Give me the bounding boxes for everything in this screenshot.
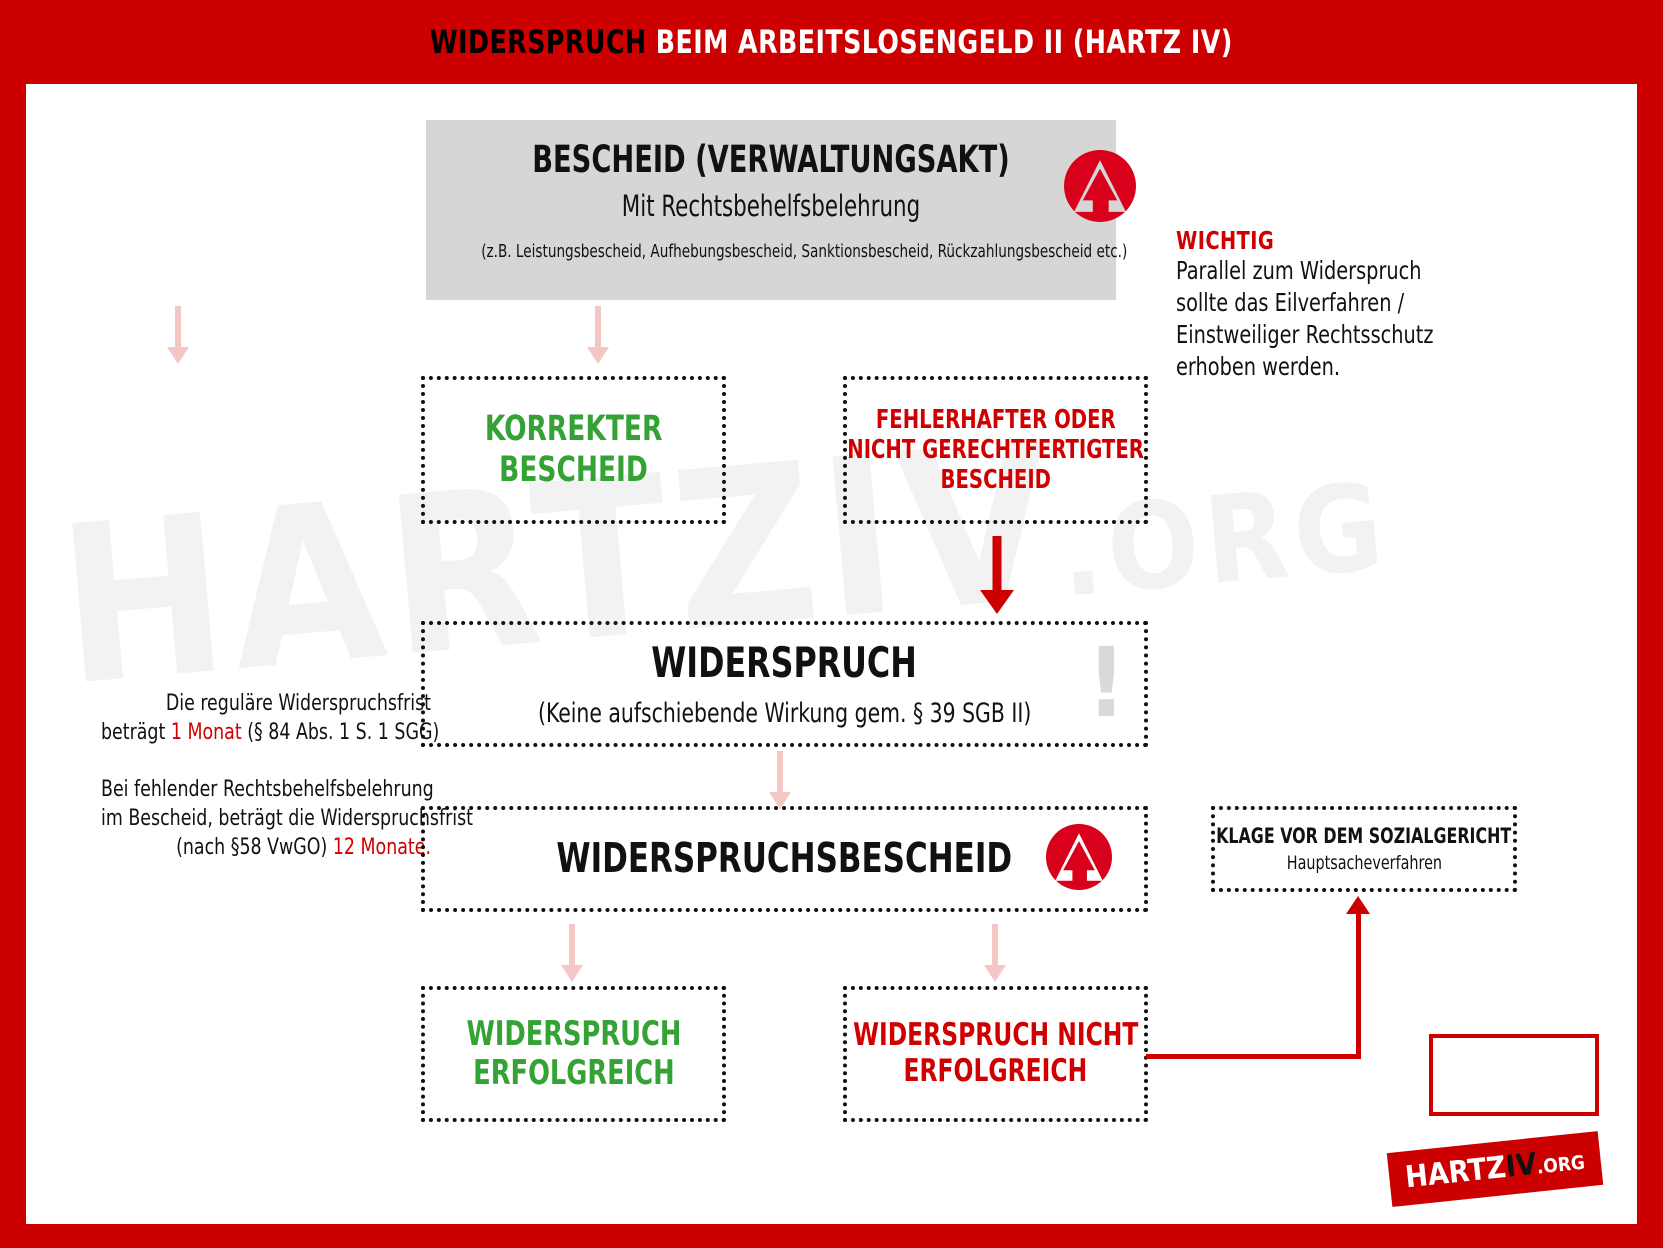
bundesagentur-fuer-arbeit-logo-icon [1064, 150, 1136, 222]
wichtig-line-2: sollte das Eilverfahren / [1176, 287, 1460, 319]
widerspruch-nicht-erfolgreich-box: WIDERSPRUCH NICHT ERFOLGREICH [843, 986, 1148, 1122]
bescheid-examples: (z.B. Leistungsbescheid, Aufhebungsbesch… [481, 241, 1061, 262]
widerspruch-erfolgreich-box: WIDERSPRUCH ERFOLGREICH [421, 986, 726, 1122]
note-block2-line2: im Bescheid, beträgt die Widerspruchsfri… [101, 804, 431, 833]
wichtig-note: WICHTIG Parallel zum Widerspruch sollte … [1176, 226, 1506, 383]
badge-part-org: .ORG [1536, 1152, 1586, 1179]
korrekter-bescheid-line2: BESCHEID [499, 450, 648, 491]
connector-nicht-erfolgreich-to-klage [1146, 892, 1396, 1077]
klage-title: KLAGE VOR DEM SOZIALGERICHT [1216, 824, 1511, 848]
fristen-notes: Die reguläre Widerspruchsfrist beträgt 1… [56, 689, 431, 862]
page-title: WIDERSPRUCH BEIM ARBEITSLOSENGELD II (HA… [430, 23, 1233, 61]
widerspruchsbescheid-title: WIDERSPRUCHSBESCHEID [557, 835, 1013, 883]
badge-part-hartz: HARTZ [1404, 1150, 1508, 1195]
note-block1-line2-pre: beträgt [101, 720, 171, 745]
arrow-fehlerhaft-to-widerspruch [979, 536, 1015, 614]
nicht-erfolgreich-line2: ERFOLGREICH [904, 1054, 1088, 1090]
fehlerhafter-bescheid-line1: FEHLERHAFTER ODER [876, 405, 1116, 435]
note-block1-line1: Die reguläre Widerspruchsfrist [101, 689, 431, 718]
bundesagentur-fuer-arbeit-logo-icon-2 [1046, 824, 1112, 890]
corner-frame-top-rule [1429, 1034, 1599, 1038]
site-logo-badge[interactable]: HARTZIV.ORG [1387, 1131, 1604, 1207]
bescheid-title: BESCHEID (VERWALTUNGSAKT) [488, 138, 1054, 181]
note-block2-line3-pre: (nach §58 VwGO) [176, 835, 333, 860]
header-bar: WIDERSPRUCH BEIM ARBEITSLOSENGELD II (HA… [0, 0, 1663, 84]
klage-box: KLAGE VOR DEM SOZIALGERICHT Hauptsacheve… [1211, 806, 1517, 892]
wichtig-line-4: erhoben werden. [1176, 351, 1460, 383]
fehlerhafter-bescheid-box: FEHLERHAFTER ODER NICHT GERECHTFERTIGTER… [843, 376, 1148, 524]
diagram-canvas: HARTZIV.ORG BESCHEID (VERWALTUNGSAKT) Mi… [26, 84, 1637, 1224]
note-block1-highlight: 1 Monat [171, 720, 242, 745]
corner-frame-right-rule [1595, 1034, 1599, 1116]
note-block2-line3: (nach §58 VwGO) 12 Monate. [101, 833, 431, 862]
page-title-emphasis: WIDERSPRUCH [430, 23, 647, 61]
arrow-bescheid-to-korrekt [166, 306, 190, 364]
widerspruch-box: WIDERSPRUCH (Keine aufschiebende Wirkung… [421, 621, 1148, 747]
widerspruchsbescheid-box: WIDERSPRUCHSBESCHEID [421, 806, 1148, 912]
wichtig-heading: WICHTIG [1176, 226, 1460, 255]
klage-subtitle: Hauptsacheverfahren [1286, 852, 1441, 874]
erfolgreich-line1: WIDERSPRUCH [466, 1015, 681, 1054]
nicht-erfolgreich-line1: WIDERSPRUCH NICHT [853, 1018, 1138, 1054]
arrow-bescheid-to-fehlerhaft [586, 306, 610, 364]
arrow-widerspruch-to-bescheid [768, 751, 792, 809]
fehlerhafter-bescheid-line3: BESCHEID [940, 465, 1050, 495]
arrow-bescheid-to-nicht-erfolgreich [983, 924, 1007, 982]
note-block1-line2-post: (§ 84 Abs. 1 S. 1 SGG) [242, 720, 440, 745]
badge-part-iv: IV [1504, 1147, 1538, 1185]
exclamation-icon: ! [1087, 643, 1126, 725]
corner-frame-decoration [1429, 1038, 1599, 1116]
note-block1-line2: beträgt 1 Monat (§ 84 Abs. 1 S. 1 SGG) [101, 718, 431, 747]
wichtig-line-3: Einstweiliger Rechtsschutz [1176, 319, 1460, 351]
korrekter-bescheid-box: KORREKTER BESCHEID [421, 376, 726, 524]
note-block2-highlight: 12 Monate. [333, 835, 431, 860]
page-title-rest: BEIM ARBEITSLOSENGELD II (HARTZ IV) [656, 23, 1233, 61]
bescheid-subtitle: Mit Rechtsbehelfsbelehrung [488, 189, 1054, 223]
note-block2-line1: Bei fehlender Rechtsbehelfsbelehrung [101, 775, 431, 804]
widerspruch-subtitle: (Keine aufschiebende Wirkung gem. § 39 S… [538, 698, 1031, 729]
arrow-bescheid-to-erfolgreich [560, 924, 584, 982]
fehlerhafter-bescheid-line2: NICHT GERECHTFERTIGTER [847, 435, 1144, 465]
korrekter-bescheid-line1: KORREKTER [485, 409, 662, 450]
widerspruch-title: WIDERSPRUCH [652, 639, 918, 688]
wichtig-line-1: Parallel zum Widerspruch [1176, 255, 1460, 287]
erfolgreich-line2: ERFOLGREICH [473, 1054, 674, 1093]
infographic-page: WIDERSPRUCH BEIM ARBEITSLOSENGELD II (HA… [0, 0, 1663, 1248]
bescheid-box: BESCHEID (VERWALTUNGSAKT) Mit Rechtsbehe… [426, 120, 1116, 300]
